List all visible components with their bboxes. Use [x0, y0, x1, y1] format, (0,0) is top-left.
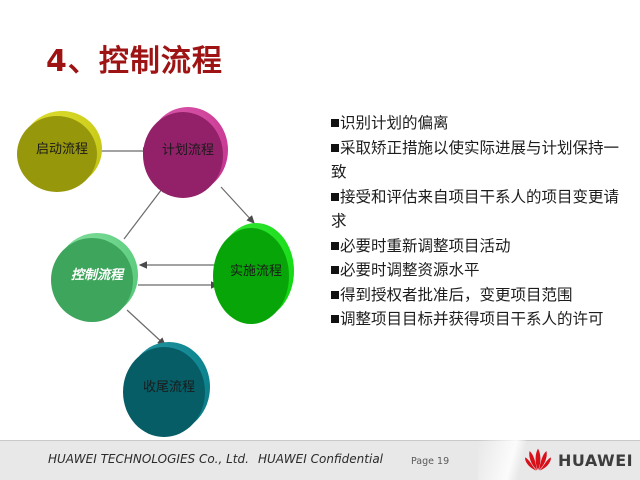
list-item-text: 接受和评估来自项目干系人的项目变更请求 — [331, 188, 619, 231]
process-node-plan-label: 计划流程 — [162, 144, 214, 157]
bullet-square-icon — [331, 119, 339, 127]
huawei-flower-icon — [525, 448, 551, 472]
huawei-wordmark: HUAWEI — [558, 451, 633, 470]
footer-confidentiality-text: HUAWEI Confidential — [258, 452, 383, 466]
list-item-text: 采取矫正措施以使实际进展与计划保持一致 — [331, 139, 619, 182]
list-item: 得到授权者批准后，变更项目范围 — [331, 283, 631, 308]
process-node-start[interactable]: 启动流程 — [22, 111, 102, 187]
list-item: 调整项目目标并获得项目干系人的许可 — [331, 307, 631, 332]
process-node-plan[interactable]: 计划流程 — [148, 107, 228, 193]
list-item: 识别计划的偏离 — [331, 111, 631, 136]
list-item: 采取矫正措施以使实际进展与计划保持一致 — [331, 136, 631, 185]
bullet-square-icon — [331, 144, 339, 152]
edge-control-to-close — [127, 310, 165, 345]
edge-control-to-plan — [124, 185, 165, 239]
bullet-square-icon — [331, 315, 339, 323]
bullet-square-icon — [331, 193, 339, 201]
process-node-control-label: 控制流程 — [71, 269, 123, 282]
process-node-start-label: 启动流程 — [36, 143, 88, 156]
list-item-text: 识别计划的偏离 — [340, 114, 449, 132]
bullet-list: 识别计划的偏离 采取矫正措施以使实际进展与计划保持一致 接受和评估来自项目干系人… — [331, 111, 631, 332]
slide-canvas: 4、控制流程 启动流程 计划流程 — [0, 0, 640, 480]
list-item: 必要时调整资源水平 — [331, 258, 631, 283]
page-number: Page 19 — [411, 456, 449, 467]
huawei-logo: HUAWEI — [525, 448, 633, 472]
list-item-text: 必要时重新调整项目活动 — [340, 237, 511, 255]
bullet-square-icon — [331, 291, 339, 299]
process-node-closing[interactable]: 收尾流程 — [128, 342, 210, 432]
list-item: 接受和评估来自项目干系人的项目变更请求 — [331, 185, 631, 234]
bullet-square-icon — [331, 266, 339, 274]
list-item-text: 调整项目目标并获得项目干系人的许可 — [340, 310, 604, 328]
process-node-control[interactable]: 控制流程 — [56, 233, 138, 317]
list-item-text: 得到授权者批准后，变更项目范围 — [340, 286, 573, 304]
process-flow-diagram: 启动流程 计划流程 控制流程 实施流程 收尾流程 — [0, 95, 330, 440]
list-item: 必要时重新调整项目活动 — [331, 234, 631, 259]
page-title: 4、控制流程 — [46, 36, 223, 80]
list-item-text: 必要时调整资源水平 — [340, 261, 480, 279]
process-node-execution[interactable]: 实施流程 — [218, 223, 294, 319]
bullet-square-icon — [331, 242, 339, 250]
footer-divider — [0, 440, 640, 441]
process-node-execution-label: 实施流程 — [230, 265, 282, 278]
edge-plan-to-exec — [221, 187, 254, 223]
footer-company-text: HUAWEI TECHNOLOGIES Co., Ltd. — [48, 452, 249, 466]
process-node-closing-label: 收尾流程 — [143, 381, 195, 394]
